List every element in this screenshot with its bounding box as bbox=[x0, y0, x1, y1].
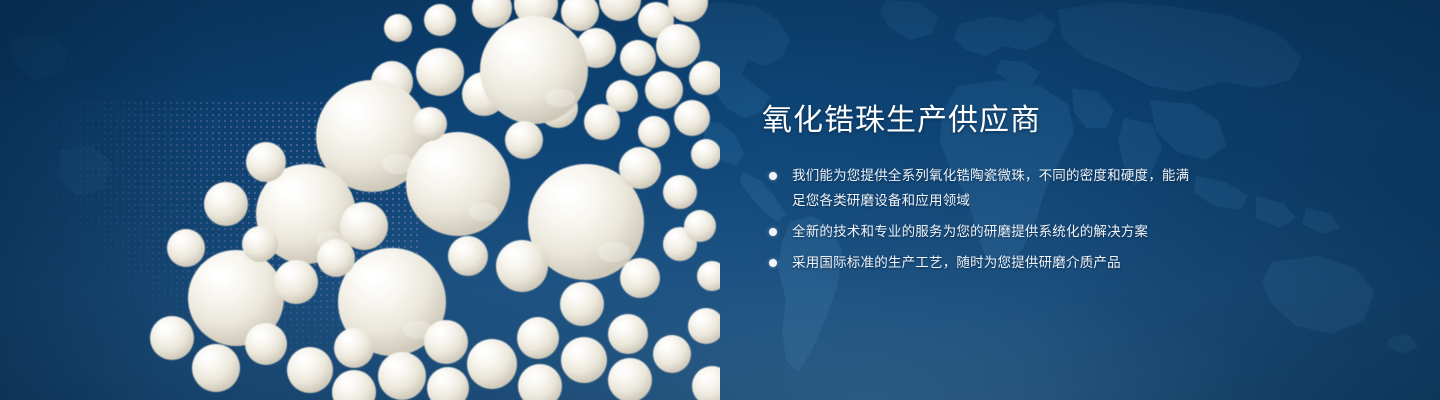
page-title: 氧化锆珠生产供应商 bbox=[762, 104, 1202, 137]
banner-copy: 氧化锆珠生产供应商 我们能为您提供全系列氧化锆陶瓷微珠，不同的密度和硬度，能满足… bbox=[762, 104, 1202, 275]
hero-banner: 氧化锆珠生产供应商 我们能为您提供全系列氧化锆陶瓷微珠，不同的密度和硬度，能满足… bbox=[0, 0, 1440, 400]
list-item-label: 全新的技术和专业的服务为您的研磨提供系统化的解决方案 bbox=[792, 224, 1148, 239]
feature-list: 我们能为您提供全系列氧化锆陶瓷微珠，不同的密度和硬度，能满足您各类研磨设备和应用… bbox=[762, 163, 1202, 275]
zirconia-beads-photo bbox=[140, 0, 720, 400]
list-item: 采用国际标准的生产工艺，随时为您提供研磨介质产品 bbox=[762, 250, 1202, 275]
list-item: 全新的技术和专业的服务为您的研磨提供系统化的解决方案 bbox=[762, 219, 1202, 244]
bullet-dot-icon bbox=[769, 228, 777, 236]
list-item: 我们能为您提供全系列氧化锆陶瓷微珠，不同的密度和硬度，能满足您各类研磨设备和应用… bbox=[762, 163, 1202, 213]
list-item-label: 采用国际标准的生产工艺，随时为您提供研磨介质产品 bbox=[792, 255, 1121, 270]
bullet-dot-icon bbox=[769, 172, 777, 180]
bullet-dot-icon bbox=[769, 259, 777, 267]
list-item-label: 我们能为您提供全系列氧化锆陶瓷微珠，不同的密度和硬度，能满足您各类研磨设备和应用… bbox=[792, 168, 1189, 208]
